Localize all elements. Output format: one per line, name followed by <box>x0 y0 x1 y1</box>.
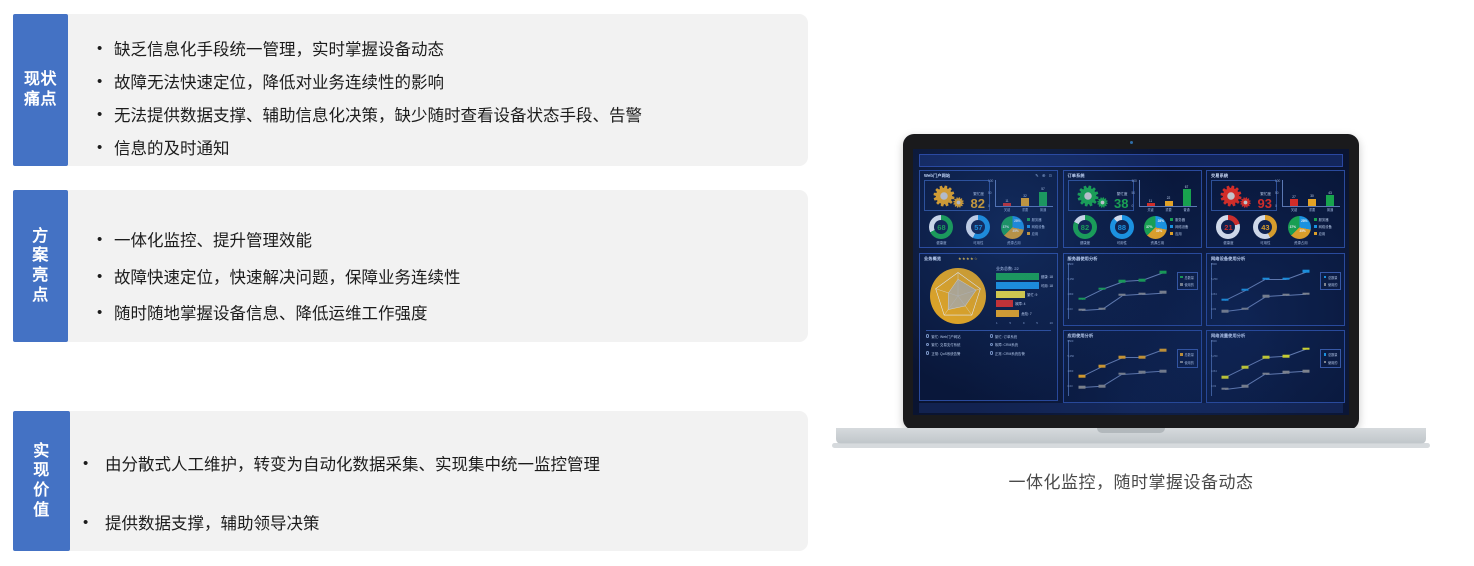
list-item: 繁忙: 订单系统 <box>990 334 1054 339</box>
tab-line: 方 <box>32 227 49 247</box>
data-point-used <box>1222 310 1229 313</box>
legend-label: 总数量 <box>1328 275 1338 280</box>
resource-pie-block: 28%35%37%服务器网络设备应用资源占用 <box>1284 215 1341 245</box>
pie-legend: 服务器网络设备应用 <box>1170 217 1188 239</box>
bar-value-label: 67 <box>1185 185 1189 189</box>
business-bar-row: 危险: 7 <box>996 310 1053 317</box>
tab-line: 值 <box>33 501 50 521</box>
gauge: 82健康度 <box>1067 215 1104 245</box>
system-panel-2: 订单系统繁忙度38100500112267关键重要普通82健康度88可用性28%… <box>1063 170 1202 248</box>
donut-gauge: 57 <box>966 215 990 239</box>
gear-large-icon <box>1077 185 1099 207</box>
y-axis-tick: 50 <box>988 191 992 195</box>
bullet-dot-icon: • <box>97 268 114 287</box>
list-item: 正常: CRM系统告警 <box>990 351 1054 356</box>
rating-stars-icon: ★★★★☆ <box>958 256 978 261</box>
axis-tick: 1 <box>996 321 998 325</box>
gauge-value: 21 <box>1221 220 1235 234</box>
business-overview-panel: 业务概览★★★★☆业务总数: 22健康: 18可用: 18繁忙: 9故障: 4危… <box>919 253 1058 402</box>
business-total-label: 业务总数: 22 <box>996 266 1019 272</box>
legend-label: 使用的 <box>1328 282 1338 287</box>
legend-label: 应用 <box>1319 231 1326 236</box>
figure-caption: 一体化监控，随时掌握设备动态 <box>836 468 1426 493</box>
bullet-list: • 一体化监控、提升管理效能 • 故障快速定位，快速解决问题，保障业务连续性 •… <box>97 231 461 341</box>
status-dot-icon <box>990 334 993 337</box>
bar-value-label: 30 <box>1310 194 1314 198</box>
pie-legend: 服务器网络设备应用 <box>1314 217 1332 239</box>
legend-swatch <box>1180 361 1183 364</box>
data-point-used <box>1139 292 1146 295</box>
bullet-dot-icon: • <box>83 455 105 474</box>
legend-item: 应用 <box>1027 231 1045 236</box>
legend-swatch <box>1170 232 1173 235</box>
donut-gauge: 43 <box>1253 215 1277 239</box>
axis-tick: 9 <box>1023 321 1025 325</box>
gauge: 68健康度 <box>923 215 960 245</box>
panel-title: 业务概览 <box>924 256 941 262</box>
business-bar-label: 健康: 18 <box>1041 274 1053 279</box>
list-item: 繁忙: 交易支付系统 <box>926 342 990 347</box>
gear-status-box: 繁忙度38 <box>1068 180 1134 211</box>
data-point-used <box>1242 385 1249 388</box>
pie-legend: 服务器网络设备应用 <box>1027 217 1045 239</box>
dashboard-screen: Web门户网站✎ ⊕ ⊙繁忙度82100500113257关键重要普通68健康度… <box>913 149 1349 415</box>
analysis-panel-3: 应用使用分析95005,25010630.03总数量使用的 <box>1063 330 1202 403</box>
severity-bar-chart: 100500113257关键重要普通 <box>988 180 1054 211</box>
data-point-total <box>1282 355 1289 358</box>
resource-pie-chart: 28%35%37% <box>1288 216 1311 239</box>
tab-line: 现 <box>33 461 50 481</box>
status-column: 繁忙: 订单系统故障: CRM系统正常: CRM系统告警 <box>990 334 1054 360</box>
legend-swatch <box>1314 218 1317 221</box>
list-item: • 故障快速定位，快速解决问题，保障业务连续性 <box>97 268 461 289</box>
list-item: • 缺乏信息化手段统一管理，实时掌握设备动态 <box>97 40 642 61</box>
analysis-panel-2: 网络设备使用分析95005,25010630.03总数量使用的 <box>1206 253 1345 326</box>
data-point-total <box>1222 376 1229 379</box>
axis-tick: 5 <box>1036 321 1038 325</box>
bar-value-label: 11 <box>1005 199 1008 203</box>
legend-label: 总数量 <box>1328 352 1338 357</box>
list-item: 正常: QoS系统告警 <box>926 351 990 356</box>
data-point-total <box>1303 270 1310 273</box>
legend-label: 服务器 <box>1319 217 1329 222</box>
legend-swatch <box>1027 225 1030 228</box>
x-axis-labels: 关键重要普通 <box>998 207 1052 212</box>
severity-bar-chart: 100500273043关键重要普通 <box>1275 180 1341 211</box>
gauge: 88可用性 <box>1103 215 1140 245</box>
data-point-used <box>1282 294 1289 297</box>
chart-legend: 总数量使用的 <box>1177 349 1198 368</box>
bar-value-label: 22 <box>1167 196 1171 200</box>
data-point-total <box>1242 289 1249 292</box>
legend-swatch <box>1324 353 1327 356</box>
line-chart-area: 95005,25010630.03 <box>1211 263 1314 321</box>
legend-item: 使用的 <box>1324 282 1338 287</box>
bar-group: 112267 <box>1142 180 1196 206</box>
content-block-realized-value: 实 现 价 值 • 由分散式人工维护，转变为自动化数据采集、实现集中统一监控管理… <box>13 411 808 551</box>
y-axis-tick: 0 <box>1275 204 1277 208</box>
gauge-label: 可用性 <box>960 240 997 245</box>
bullet-list: • 由分散式人工维护，转变为自动化数据采集、实现集中统一监控管理 • 提供数据支… <box>83 455 600 566</box>
business-bar-label: 故障: 4 <box>1015 301 1025 306</box>
x-axis-label: 重要 <box>1307 207 1317 212</box>
severity-bar-chart: 100500112267关键重要普通 <box>1132 180 1198 211</box>
legend-label: 使用的 <box>1184 282 1194 287</box>
legend-item: 使用的 <box>1180 360 1194 365</box>
data-point-total <box>1119 280 1126 283</box>
business-bar-fill <box>996 291 1025 298</box>
pie-slice-label: 28% <box>1014 219 1020 223</box>
list-item-text: 繁忙: 订单系统 <box>995 334 1017 339</box>
data-point-used <box>1262 295 1269 298</box>
data-point-used <box>1078 308 1085 311</box>
pie-slice-label: 37% <box>1290 225 1296 229</box>
data-point-total <box>1159 349 1166 352</box>
bar: 30 <box>1308 199 1316 207</box>
data-point-layer <box>1072 263 1171 319</box>
status-dot-icon <box>990 351 993 354</box>
slide-root: 现状 痛点 • 缺乏信息化手段统一管理，实时掌握设备动态 • 故障无法快速定位，… <box>0 0 1474 566</box>
busy-level-value: 93 <box>1258 197 1272 210</box>
block-tab-label: 现状 痛点 <box>13 14 68 166</box>
data-point-used <box>1282 371 1289 374</box>
legend-swatch <box>1027 218 1030 221</box>
data-point-used <box>1159 370 1166 373</box>
gauge-label: 健康度 <box>1067 240 1104 245</box>
x-axis-label: 关键 <box>1289 207 1299 212</box>
tab-line: 价 <box>33 481 50 501</box>
list-item-text: 提供数据支撑，辅助领导决策 <box>105 514 320 535</box>
y-axis-tick: 100 <box>1132 179 1137 183</box>
list-item-text: 故障快速定位，快速解决问题，保障业务连续性 <box>114 268 461 289</box>
gauge-row: 68健康度57可用性28%35%37%服务器网络设备应用资源占用 <box>923 215 1054 245</box>
list-item-text: 缺乏信息化手段统一管理，实时掌握设备动态 <box>114 40 444 61</box>
legend-label: 网络设备 <box>1175 224 1188 229</box>
x-axis-label: 重要 <box>1020 207 1030 212</box>
pie-label: 资源占用 <box>1284 240 1318 245</box>
pie-slice-label: 35% <box>1012 229 1018 233</box>
legend-swatch <box>1314 225 1317 228</box>
data-point-total <box>1262 356 1269 359</box>
list-item-text: 繁忙: Web门户网站 <box>931 334 960 339</box>
data-point-used <box>1078 386 1085 389</box>
bullet-dot-icon: • <box>97 106 114 125</box>
gear-small-icon <box>953 197 964 208</box>
y-axis-tick: 0 <box>1132 204 1134 208</box>
bullet-list: • 缺乏信息化手段统一管理，实时掌握设备动态 • 故障无法快速定位，降低对业务连… <box>97 40 642 173</box>
data-point-layer <box>1072 340 1171 396</box>
data-point-used <box>1242 307 1249 310</box>
resource-pie-chart: 28%35%37% <box>1144 216 1167 239</box>
gauge-label: 可用性 <box>1103 240 1140 245</box>
business-axis: 159520 <box>996 321 1053 325</box>
legend-label: 使用的 <box>1184 360 1194 365</box>
panel-title: 应用使用分析 <box>1068 333 1094 339</box>
bar: 57 <box>1039 192 1047 206</box>
bar-group: 113257 <box>998 180 1052 206</box>
bar-value-label: 11 <box>1149 199 1152 203</box>
y-axis-tick: 100 <box>988 179 993 183</box>
business-status-list: 繁忙: Web门户网站繁忙: 交易支付系统正常: QoS系统告警繁忙: 订单系统… <box>926 334 1053 360</box>
legend-item: 使用的 <box>1180 282 1194 287</box>
data-point-used <box>1119 294 1126 297</box>
list-item-text: 由分散式人工维护，转变为自动化数据采集、实现集中统一监控管理 <box>105 455 600 476</box>
panel-title: 订单系统 <box>1068 173 1085 179</box>
donut-gauge: 88 <box>1110 215 1134 239</box>
dashboard-grid: Web门户网站✎ ⊕ ⊙繁忙度82100500113257关键重要普通68健康度… <box>919 170 1343 401</box>
business-bar-label: 危险: 7 <box>1021 311 1031 316</box>
panel-title: 服务器使用分析 <box>1068 256 1098 262</box>
list-item: 故障: CRM系统 <box>990 342 1054 347</box>
gear-small-icon <box>1240 197 1251 208</box>
data-point-total <box>1139 279 1146 282</box>
status-dot-icon <box>990 343 993 346</box>
legend-item: 网络设备 <box>1170 224 1188 229</box>
divider <box>926 330 1051 331</box>
analysis-panel-4: 网络流量使用分析95005,25010630.03总数量使用的 <box>1206 330 1345 403</box>
resource-pie-chart: 28%35%37% <box>1001 216 1024 239</box>
business-bar-row: 繁忙: 9 <box>996 291 1053 298</box>
pie-label: 资源占用 <box>1140 240 1174 245</box>
data-point-used <box>1262 372 1269 375</box>
bullet-dot-icon: • <box>97 139 114 158</box>
legend-item: 应用 <box>1170 231 1188 236</box>
bar-value-label: 27 <box>1292 195 1296 199</box>
tab-line: 痛点 <box>24 90 57 110</box>
gear-large-icon <box>933 185 955 207</box>
legend-item: 总数量 <box>1180 275 1194 280</box>
gauge-value: 68 <box>934 220 948 234</box>
legend-swatch <box>1170 218 1173 221</box>
legend-label: 总数量 <box>1184 275 1194 280</box>
data-point-used <box>1303 292 1310 295</box>
legend-swatch <box>1180 353 1183 356</box>
legend-item: 总数量 <box>1324 275 1338 280</box>
gauge-value: 88 <box>1115 220 1129 234</box>
data-point-layer <box>1215 340 1314 396</box>
business-bar-fill <box>996 300 1013 307</box>
data-point-used <box>1098 307 1105 310</box>
gear-large-icon <box>1220 185 1242 207</box>
laptop-lid: Web门户网站✎ ⊕ ⊙繁忙度82100500113257关键重要普通68健康度… <box>903 134 1359 430</box>
line-chart-area: 95005,25010630.03 <box>1068 263 1171 321</box>
pie-slice-label: 35% <box>1156 229 1162 233</box>
webcam-icon <box>1130 141 1133 144</box>
bar-value-label: 32 <box>1023 194 1027 198</box>
donut-gauge: 21 <box>1216 215 1240 239</box>
donut-gauge: 82 <box>1073 215 1097 239</box>
x-axis-labels: 关键重要普通 <box>1142 207 1196 212</box>
axis-tick: 20 <box>1050 321 1053 325</box>
list-item-text: 繁忙: 交易支付系统 <box>931 342 960 347</box>
data-point-used <box>1222 387 1229 390</box>
chart-y-axis <box>995 180 996 206</box>
busy-level-value: 82 <box>971 197 985 210</box>
legend-item: 网络设备 <box>1314 224 1332 229</box>
data-point-layer <box>1215 263 1314 319</box>
legend-swatch <box>1324 283 1327 286</box>
panel-title: Web门户网站 <box>924 173 950 179</box>
list-item-text: 无法提供数据支撑、辅助信息化决策，缺少随时查看设备状态手段、告警 <box>114 106 642 127</box>
status-column: 繁忙: Web门户网站繁忙: 交易支付系统正常: QoS系统告警 <box>926 334 990 360</box>
bar: 32 <box>1021 198 1029 206</box>
bar: 67 <box>1183 189 1191 206</box>
bar-group: 273043 <box>1285 180 1339 206</box>
bar: 27 <box>1290 199 1298 206</box>
legend-item: 服务器 <box>1170 217 1188 222</box>
list-item: • 随时随地掌握设备信息、降低运维工作强度 <box>97 304 461 325</box>
legend-label: 使用的 <box>1328 360 1338 365</box>
content-block-solution-highlights: 方 案 亮 点 • 一体化监控、提升管理效能 • 故障快速定位，快速解决问题，保… <box>13 190 808 342</box>
block-tab-label: 实 现 价 值 <box>13 411 70 551</box>
list-item: • 无法提供数据支撑、辅助信息化决策，缺少随时查看设备状态手段、告警 <box>97 106 642 127</box>
pie-slice-label: 37% <box>1146 225 1152 229</box>
status-dot-icon <box>926 351 929 354</box>
system-panel-1: Web门户网站✎ ⊕ ⊙繁忙度82100500113257关键重要普通68健康度… <box>919 170 1058 248</box>
resource-pie-block: 28%35%37%服务器网络设备应用资源占用 <box>1140 215 1197 245</box>
business-bar-label: 可用: 18 <box>1041 283 1053 288</box>
data-point-used <box>1139 371 1146 374</box>
legend-label: 总数量 <box>1184 352 1194 357</box>
list-item-text: 一体化监控、提升管理效能 <box>114 231 312 252</box>
legend-item: 服务器 <box>1314 217 1332 222</box>
legend-swatch <box>1180 283 1183 286</box>
bar-value-label: 43 <box>1328 191 1332 195</box>
legend-swatch <box>1324 361 1327 364</box>
legend-label: 应用 <box>1032 231 1039 236</box>
list-item-text: 故障无法快速定位，降低对业务连续性的影响 <box>114 73 444 94</box>
panel-toolbar[interactable]: ✎ ⊕ ⊙ <box>1035 173 1053 178</box>
business-bar-fill <box>996 282 1039 289</box>
business-bar-list: 健康: 18可用: 18繁忙: 9故障: 4危险: 7 <box>996 273 1053 319</box>
business-bar-row: 故障: 4 <box>996 300 1053 307</box>
legend-swatch <box>1180 276 1183 279</box>
list-item-text: 随时随地掌握设备信息、降低运维工作强度 <box>114 304 428 325</box>
data-point-total <box>1119 356 1126 359</box>
data-point-total <box>1262 277 1269 280</box>
legend-label: 服务器 <box>1175 217 1185 222</box>
chart-legend: 总数量使用的 <box>1320 272 1341 291</box>
legend-label: 服务器 <box>1032 217 1042 222</box>
data-point-total <box>1282 277 1289 280</box>
business-bar-row: 可用: 18 <box>996 282 1053 289</box>
list-item: • 一体化监控、提升管理效能 <box>97 231 461 252</box>
data-point-total <box>1303 347 1310 350</box>
laptop-shadow <box>832 443 1430 448</box>
list-item: • 由分散式人工维护，转变为自动化数据采集、实现集中统一监控管理 <box>83 455 600 476</box>
legend-swatch <box>1027 232 1030 235</box>
panel-title: 网络设备使用分析 <box>1211 256 1245 262</box>
business-bar-label: 繁忙: 9 <box>1027 292 1037 297</box>
list-item: • 故障无法快速定位，降低对业务连续性的影响 <box>97 73 642 94</box>
gear-small-icon <box>1097 197 1108 208</box>
gauge-row: 21健康度43可用性28%35%37%服务器网络设备应用资源占用 <box>1210 215 1341 245</box>
gauge-value: 57 <box>971 220 985 234</box>
content-block-pain-points: 现状 痛点 • 缺乏信息化手段统一管理，实时掌握设备动态 • 故障无法快速定位，… <box>13 14 808 166</box>
legend-swatch <box>1324 276 1327 279</box>
gauge-label: 健康度 <box>923 240 960 245</box>
list-item-text: 正常: CRM系统告警 <box>995 351 1025 356</box>
bullet-dot-icon: • <box>97 40 114 59</box>
gauge-value: 82 <box>1078 220 1092 234</box>
list-item: • 信息的及时通知 <box>97 139 642 160</box>
tab-line: 亮 <box>32 266 49 286</box>
laptop-illustration: Web门户网站✎ ⊕ ⊙繁忙度82100500113257关键重要普通68健康度… <box>836 134 1426 446</box>
legend-label: 网络设备 <box>1032 224 1045 229</box>
bar: 11 <box>1003 203 1011 206</box>
tab-line: 点 <box>32 286 49 306</box>
legend-item: 服务器 <box>1027 217 1045 222</box>
list-item-text: 信息的及时通知 <box>114 139 230 160</box>
legend-swatch <box>1314 232 1317 235</box>
gauge: 57可用性 <box>960 215 997 245</box>
chart-legend: 总数量使用的 <box>1320 349 1341 368</box>
resource-pie-block: 28%35%37%服务器网络设备应用资源占用 <box>997 215 1054 245</box>
list-item: 繁忙: Web门户网站 <box>926 334 990 339</box>
panel-title: 交易系统 <box>1211 173 1228 179</box>
bar: 43 <box>1326 195 1334 206</box>
tab-line: 案 <box>32 246 49 266</box>
gauge-label: 健康度 <box>1210 240 1247 245</box>
data-point-used <box>1159 291 1166 294</box>
gear-status-box: 繁忙度93 <box>1211 180 1277 211</box>
chart-legend: 总数量使用的 <box>1177 272 1198 291</box>
analysis-panel-1: 服务器使用分析95005,25010630.03总数量使用的 <box>1063 253 1202 326</box>
business-bar-fill <box>996 273 1039 280</box>
y-axis-tick: 50 <box>1132 191 1136 195</box>
tab-line: 实 <box>33 442 50 462</box>
legend-label: 应用 <box>1175 231 1182 236</box>
data-point-total <box>1139 356 1146 359</box>
business-radar-chart <box>930 268 986 324</box>
system-panel-3: 交易系统繁忙度93100500273043关键重要普通21健康度43可用性28%… <box>1206 170 1345 248</box>
block-tab-label: 方 案 亮 点 <box>13 190 68 342</box>
pie-slice-label: 28% <box>1301 219 1307 223</box>
legend-swatch <box>1170 225 1173 228</box>
legend-item: 使用的 <box>1324 360 1338 365</box>
tab-line: 现状 <box>24 70 57 90</box>
y-axis-tick: 0 <box>988 204 990 208</box>
donut-gauge: 68 <box>929 215 953 239</box>
x-axis-labels: 关键重要普通 <box>1285 207 1339 212</box>
axis-tick: 5 <box>1009 321 1011 325</box>
business-bar-row: 健康: 18 <box>996 273 1053 280</box>
x-axis-label: 重要 <box>1164 207 1174 212</box>
bullet-dot-icon: • <box>97 73 114 92</box>
pie-slice-label: 35% <box>1299 229 1305 233</box>
chart-y-axis <box>1139 180 1140 206</box>
gauge: 43可用性 <box>1247 215 1284 245</box>
pie-label: 资源占用 <box>997 240 1031 245</box>
dashboard-bottombar <box>919 403 1343 413</box>
data-point-used <box>1119 372 1126 375</box>
busy-level-value: 38 <box>1114 197 1128 210</box>
y-axis-tick: 100 <box>1275 179 1280 183</box>
chart-y-axis <box>1282 180 1283 206</box>
bar: 11 <box>1147 203 1155 206</box>
x-axis-label: 普通 <box>1038 207 1048 212</box>
list-item: • 提供数据支撑，辅助领导决策 <box>83 514 600 535</box>
laptop-base-notch <box>1097 428 1165 433</box>
data-point-total <box>1078 375 1085 378</box>
x-axis-label: 关键 <box>1002 207 1012 212</box>
bullet-dot-icon: • <box>97 231 114 250</box>
status-dot-icon <box>926 334 929 337</box>
line-chart-area: 95005,25010630.03 <box>1211 340 1314 398</box>
data-point-total <box>1098 365 1105 368</box>
status-dot-icon <box>926 343 929 346</box>
list-item-text: 故障: CRM系统 <box>995 342 1018 347</box>
